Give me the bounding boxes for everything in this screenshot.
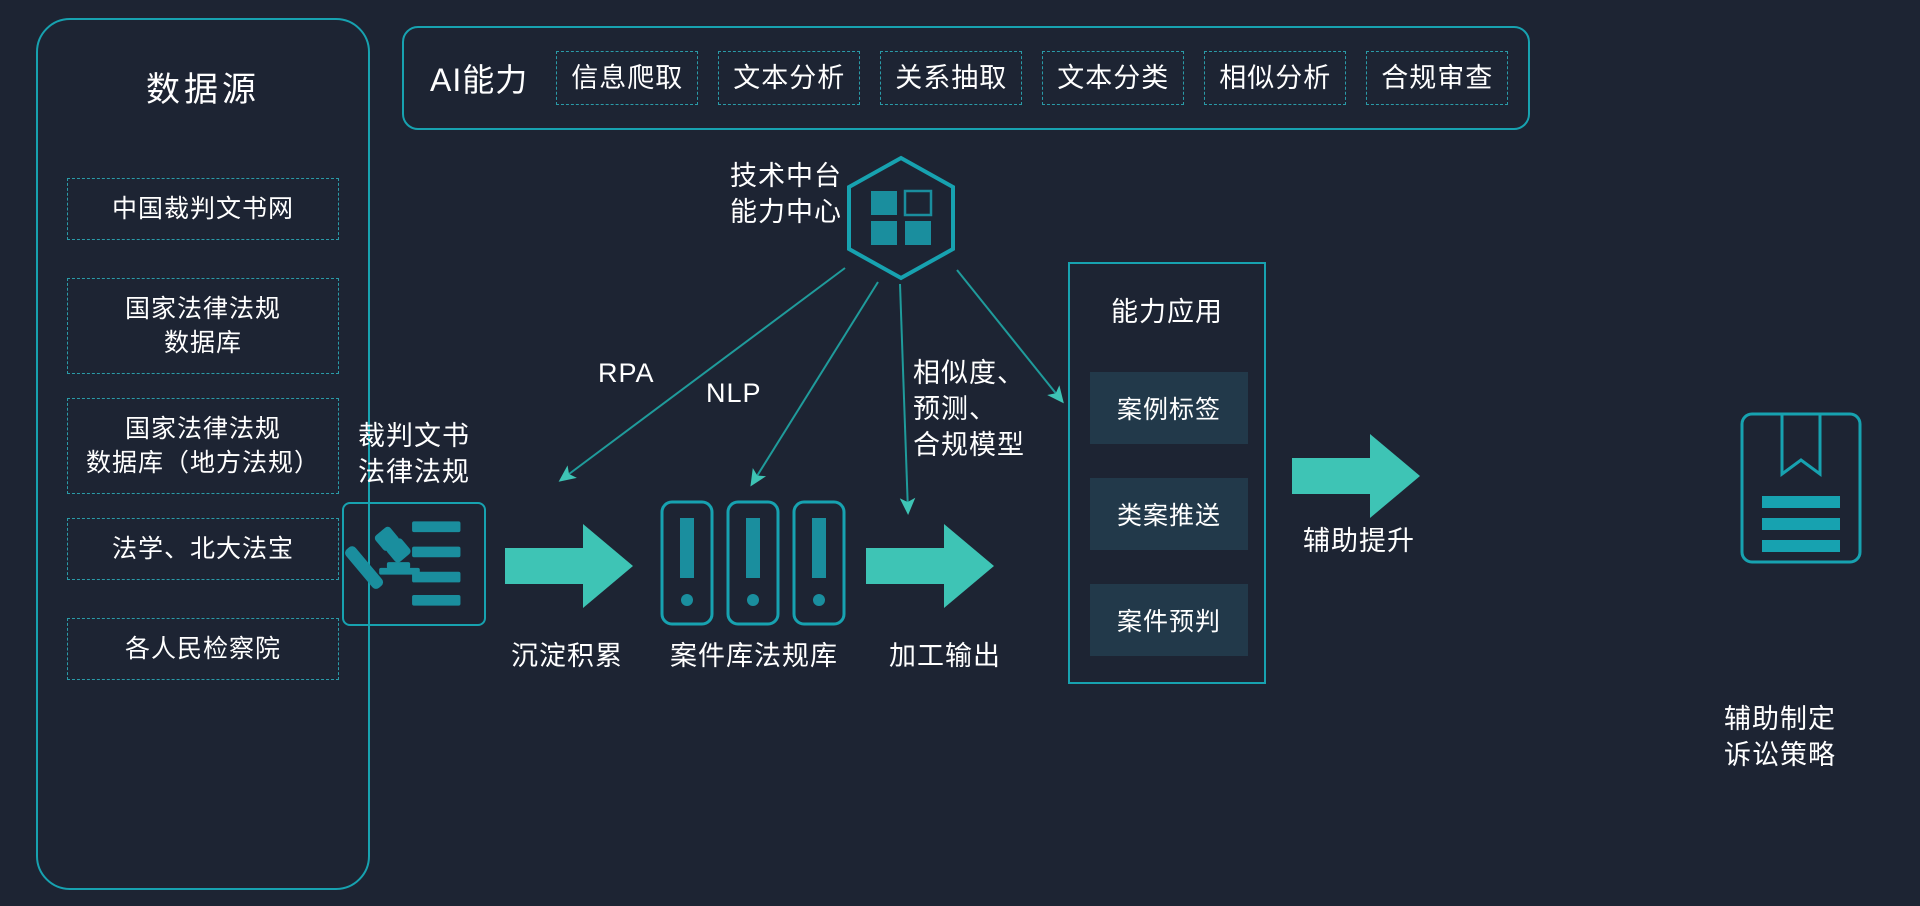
datasource-item-label: 各人民检察院: [125, 632, 281, 666]
ai-capability-bar: AI能力 信息爬取 文本分析 关系抽取 文本分类 相似分析 合规审查: [402, 26, 1530, 130]
sediment-caption: 沉淀积累: [492, 638, 642, 674]
capability-item-0[interactable]: 案例标签: [1090, 372, 1248, 444]
capability-item-1[interactable]: 类案推送: [1090, 478, 1248, 550]
flow-label-model: 相似度、 预测、 合规模型: [913, 355, 1025, 463]
datasource-item-label: 国家法律法规 数据库: [125, 292, 281, 360]
datasource-item-2[interactable]: 国家法律法规 数据库（地方法规）: [67, 398, 339, 494]
datasource-item-label: 法学、北大法宝: [112, 532, 294, 566]
datasource-item-1[interactable]: 国家法律法规 数据库: [67, 278, 339, 374]
ai-chip-1[interactable]: 文本分析: [718, 51, 860, 105]
ai-chip-3[interactable]: 文本分类: [1042, 51, 1184, 105]
documents-caption: 裁判文书 法律法规: [338, 418, 490, 490]
datasource-item-3[interactable]: 法学、北大法宝: [67, 518, 339, 580]
datasource-item-4[interactable]: 各人民检察院: [67, 618, 339, 680]
diagram-canvas: 数据源 中国裁判文书网 国家法律法规 数据库 国家法律法规 数据库（地方法规） …: [0, 0, 1920, 906]
datasource-item-label: 中国裁判文书网: [112, 192, 294, 226]
ai-chip-5[interactable]: 合规审查: [1366, 51, 1508, 105]
bookmarked-document-icon: [1740, 412, 1862, 564]
datasource-item-label: 国家法律法规 数据库（地方法规）: [86, 412, 320, 480]
processing-caption: 加工输出: [870, 638, 1020, 674]
strategy-caption: 辅助制定 诉讼策略: [1690, 701, 1870, 773]
right-arrow-icon-3: [1292, 432, 1420, 520]
ai-capability-title: AI能力: [430, 55, 528, 101]
ai-chip-2[interactable]: 关系抽取: [880, 51, 1022, 105]
server-rack-icon: [660, 500, 846, 626]
hexagon-grid-icon: [845, 155, 957, 281]
flow-label-rpa: RPA: [598, 355, 655, 391]
repository-caption: 案件库法规库: [656, 638, 852, 674]
datasource-title: 数据源: [38, 62, 368, 111]
datasource-panel: 数据源 中国裁判文书网 国家法律法规 数据库 国家法律法规 数据库（地方法规） …: [36, 18, 370, 890]
flow-label-nlp: NLP: [706, 375, 762, 411]
datasource-item-0[interactable]: 中国裁判文书网: [67, 178, 339, 240]
gavel-document-icon: [342, 502, 486, 626]
capability-application-panel: 能力应用 案例标签 类案推送 案件预判: [1068, 262, 1266, 684]
assist-caption: 辅助提升: [1294, 523, 1424, 559]
ai-chip-4[interactable]: 相似分析: [1204, 51, 1346, 105]
capability-panel-title: 能力应用: [1070, 290, 1264, 329]
right-arrow-icon-1: [505, 522, 633, 610]
right-arrow-icon-2: [866, 522, 994, 610]
capability-item-2[interactable]: 案件预判: [1090, 584, 1248, 656]
ai-chip-0[interactable]: 信息爬取: [556, 51, 698, 105]
